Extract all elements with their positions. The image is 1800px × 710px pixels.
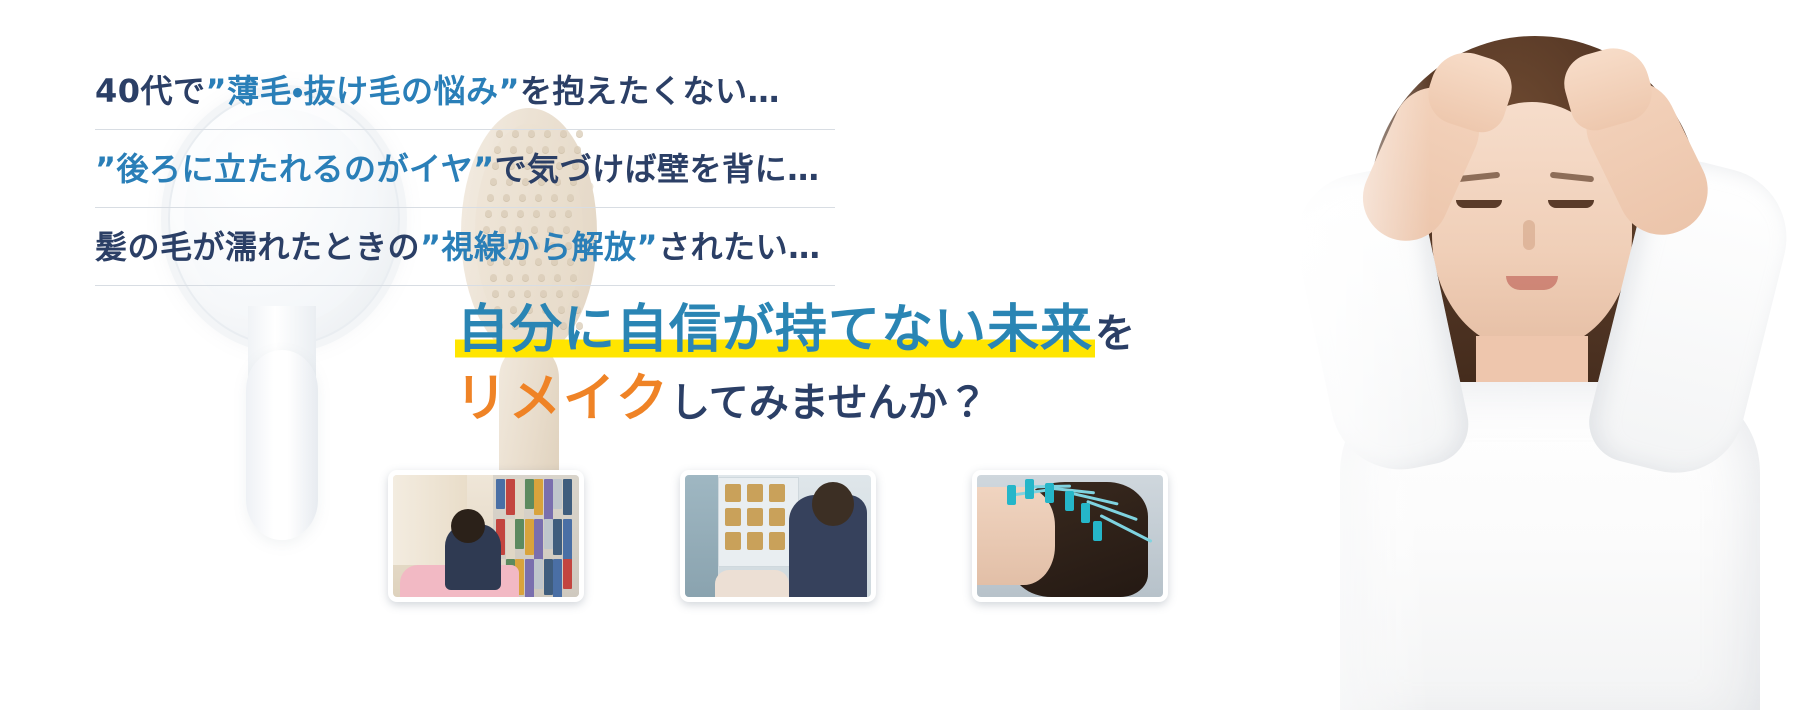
- segment-blue: ”薄毛・抜け毛の悩み”: [206, 72, 520, 110]
- pain-point-item-3: 髪の毛が濡れたときの”視線から解放”されたい…: [95, 208, 835, 286]
- thumbnail-2[interactable]: [680, 470, 876, 602]
- pain-point-list: 40代で”薄毛・抜け毛の悩み”を抱えたくない… ”後ろに立たれるのがイヤ”で気づ…: [95, 52, 835, 286]
- segment-blue: ”視線から解放”: [420, 228, 658, 266]
- thumbnail-gallery: [388, 470, 1188, 605]
- headline-highlight: 自分に自信が持てない未来: [455, 300, 1095, 360]
- thumbnail-3-image: [977, 475, 1163, 597]
- thumbnail-2-image: [685, 475, 871, 597]
- segment-navy: 40代で: [95, 72, 206, 110]
- headline-line-1: 自分に自信が持てない未来を: [455, 300, 1195, 361]
- headline-line2-tail: してみませんか？: [670, 380, 988, 426]
- hero-photo: [1240, 0, 1800, 710]
- pain-point-item-1: 40代で”薄毛・抜け毛の悩み”を抱えたくない…: [95, 52, 835, 130]
- photo-fade-overlay: [1240, 0, 1800, 710]
- segment-navy: 髪の毛が濡れたときの: [95, 228, 420, 266]
- headline-line-2: リメイクしてみませんか？: [455, 369, 1195, 430]
- segment-navy: で気づけば壁を背に…: [495, 150, 820, 188]
- thumbnail-1-image: [393, 475, 579, 597]
- pain-point-text-2: ”後ろに立たれるのがイヤ”で気づけば壁を背に…: [95, 153, 820, 185]
- headline-accent: リメイク: [455, 369, 670, 429]
- segment-blue: ”後ろに立たれるのがイヤ”: [95, 150, 495, 188]
- segment-navy: されたい…: [658, 228, 821, 266]
- thumbnail-1[interactable]: [388, 470, 584, 602]
- pain-point-item-2: ”後ろに立たれるのがイヤ”で気づけば壁を背に…: [95, 130, 835, 208]
- main-headline: 自分に自信が持てない未来を リメイクしてみませんか？: [455, 300, 1195, 431]
- headline-line1-tail: を: [1095, 311, 1136, 357]
- pain-point-text-3: 髪の毛が濡れたときの”視線から解放”されたい…: [95, 231, 821, 263]
- hero-section: 40代で”薄毛・抜け毛の悩み”を抱えたくない… ”後ろに立たれるのがイヤ”で気づ…: [0, 0, 1800, 710]
- segment-navy: を抱えたくない…: [520, 72, 780, 110]
- pain-point-text-1: 40代で”薄毛・抜け毛の悩み”を抱えたくない…: [95, 75, 780, 107]
- thumbnail-3[interactable]: [972, 470, 1168, 602]
